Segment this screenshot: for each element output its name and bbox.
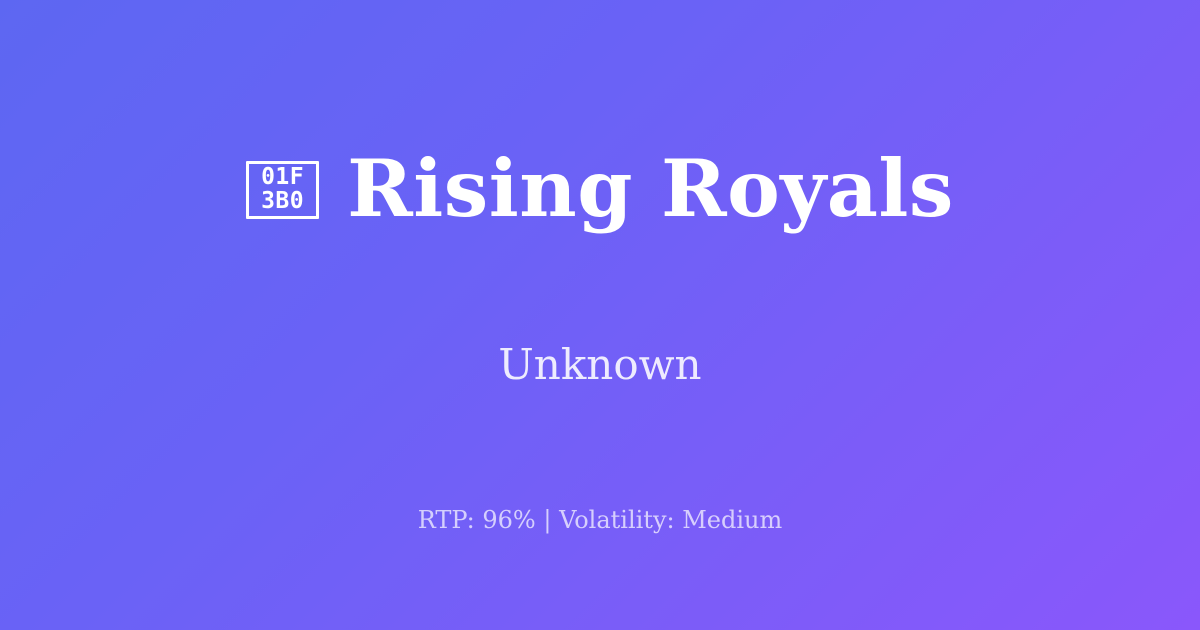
- slot-machine-emoji-tofu-icon: 01F 3B0: [246, 161, 319, 219]
- game-stats: RTP: 96% | Volatility: Medium: [418, 506, 783, 535]
- og-preview-card: 01F 3B0 Rising Royals Unknown RTP: 96% |…: [0, 0, 1200, 630]
- tofu-hex-top: 01F: [261, 166, 304, 189]
- game-provider: Unknown: [498, 342, 701, 388]
- tofu-hex-bottom: 3B0: [261, 190, 304, 213]
- title-row: 01F 3B0 Rising Royals: [246, 95, 954, 284]
- game-title: Rising Royals: [347, 148, 954, 231]
